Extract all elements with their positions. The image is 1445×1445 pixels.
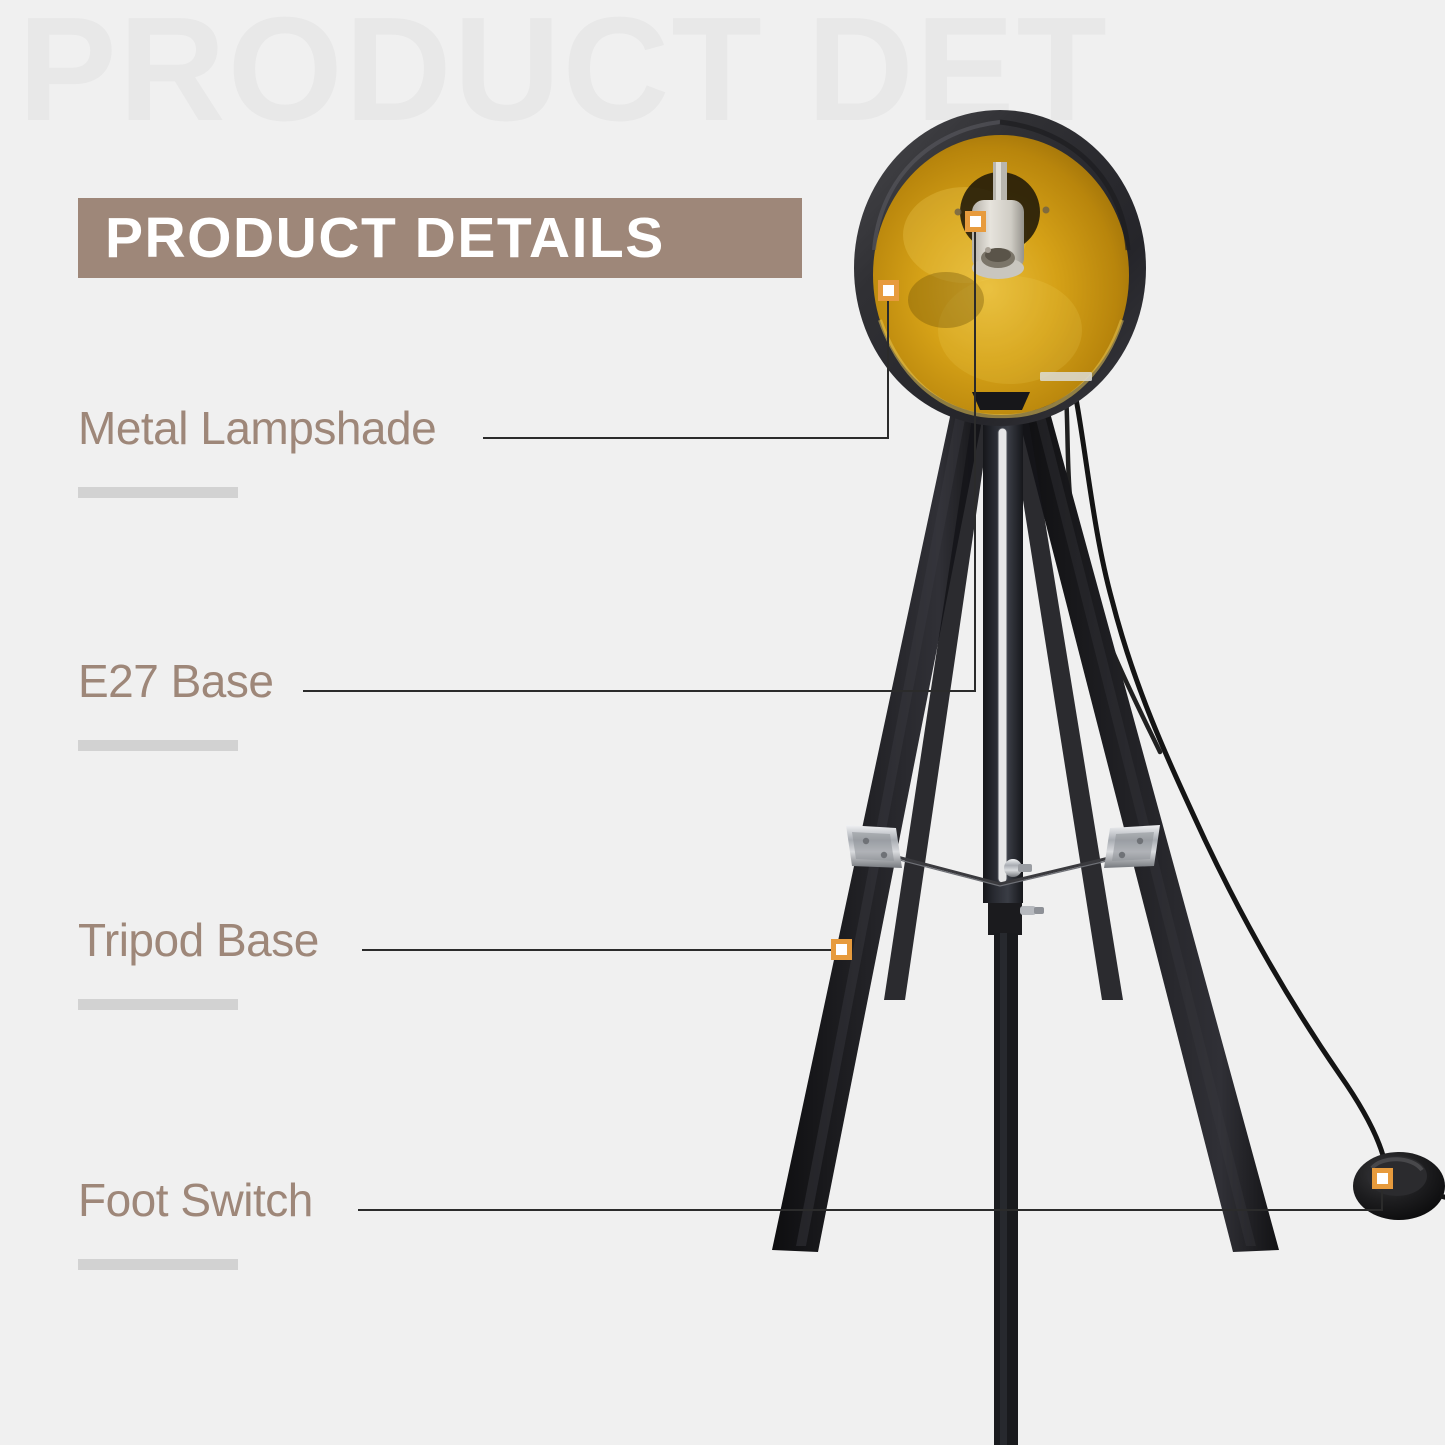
callout-marker-tripod-base[interactable] <box>831 939 852 960</box>
page-title: PRODUCT DETAILS <box>78 205 665 271</box>
callout-metal-lampshade: Metal Lampshade <box>78 405 436 498</box>
leader-line-foot-switch-h <box>358 1209 1383 1211</box>
infographic-canvas: PRODUCT DET <box>0 0 1445 1445</box>
callout-label-e27-base: E27 Base <box>78 658 273 704</box>
callout-marker-foot-switch[interactable] <box>1372 1168 1393 1189</box>
leader-line-e27-base-h <box>303 690 975 692</box>
leader-line-e27-base-v <box>974 232 976 692</box>
page-title-banner: PRODUCT DETAILS <box>78 198 802 278</box>
leader-line-foot-switch-v <box>1381 1189 1383 1211</box>
callout-e27-base: E27 Base <box>78 658 273 751</box>
leader-line-metal-lampshade-v <box>887 292 889 439</box>
callout-rule-e27-base <box>78 740 238 751</box>
callout-label-metal-lampshade: Metal Lampshade <box>78 405 436 451</box>
callout-marker-metal-lampshade[interactable] <box>878 280 899 301</box>
callout-rule-metal-lampshade <box>78 487 238 498</box>
callout-label-foot-switch: Foot Switch <box>78 1177 313 1223</box>
callout-rule-tripod-base <box>78 999 238 1010</box>
callout-label-tripod-base: Tripod Base <box>78 917 319 963</box>
callout-tripod-base: Tripod Base <box>78 917 319 1010</box>
leader-line-tripod-base-h <box>362 949 836 951</box>
callout-foot-switch: Foot Switch <box>78 1177 313 1270</box>
leader-line-metal-lampshade-h <box>483 437 889 439</box>
callout-rule-foot-switch <box>78 1259 238 1270</box>
callout-marker-e27-base[interactable] <box>965 211 986 232</box>
